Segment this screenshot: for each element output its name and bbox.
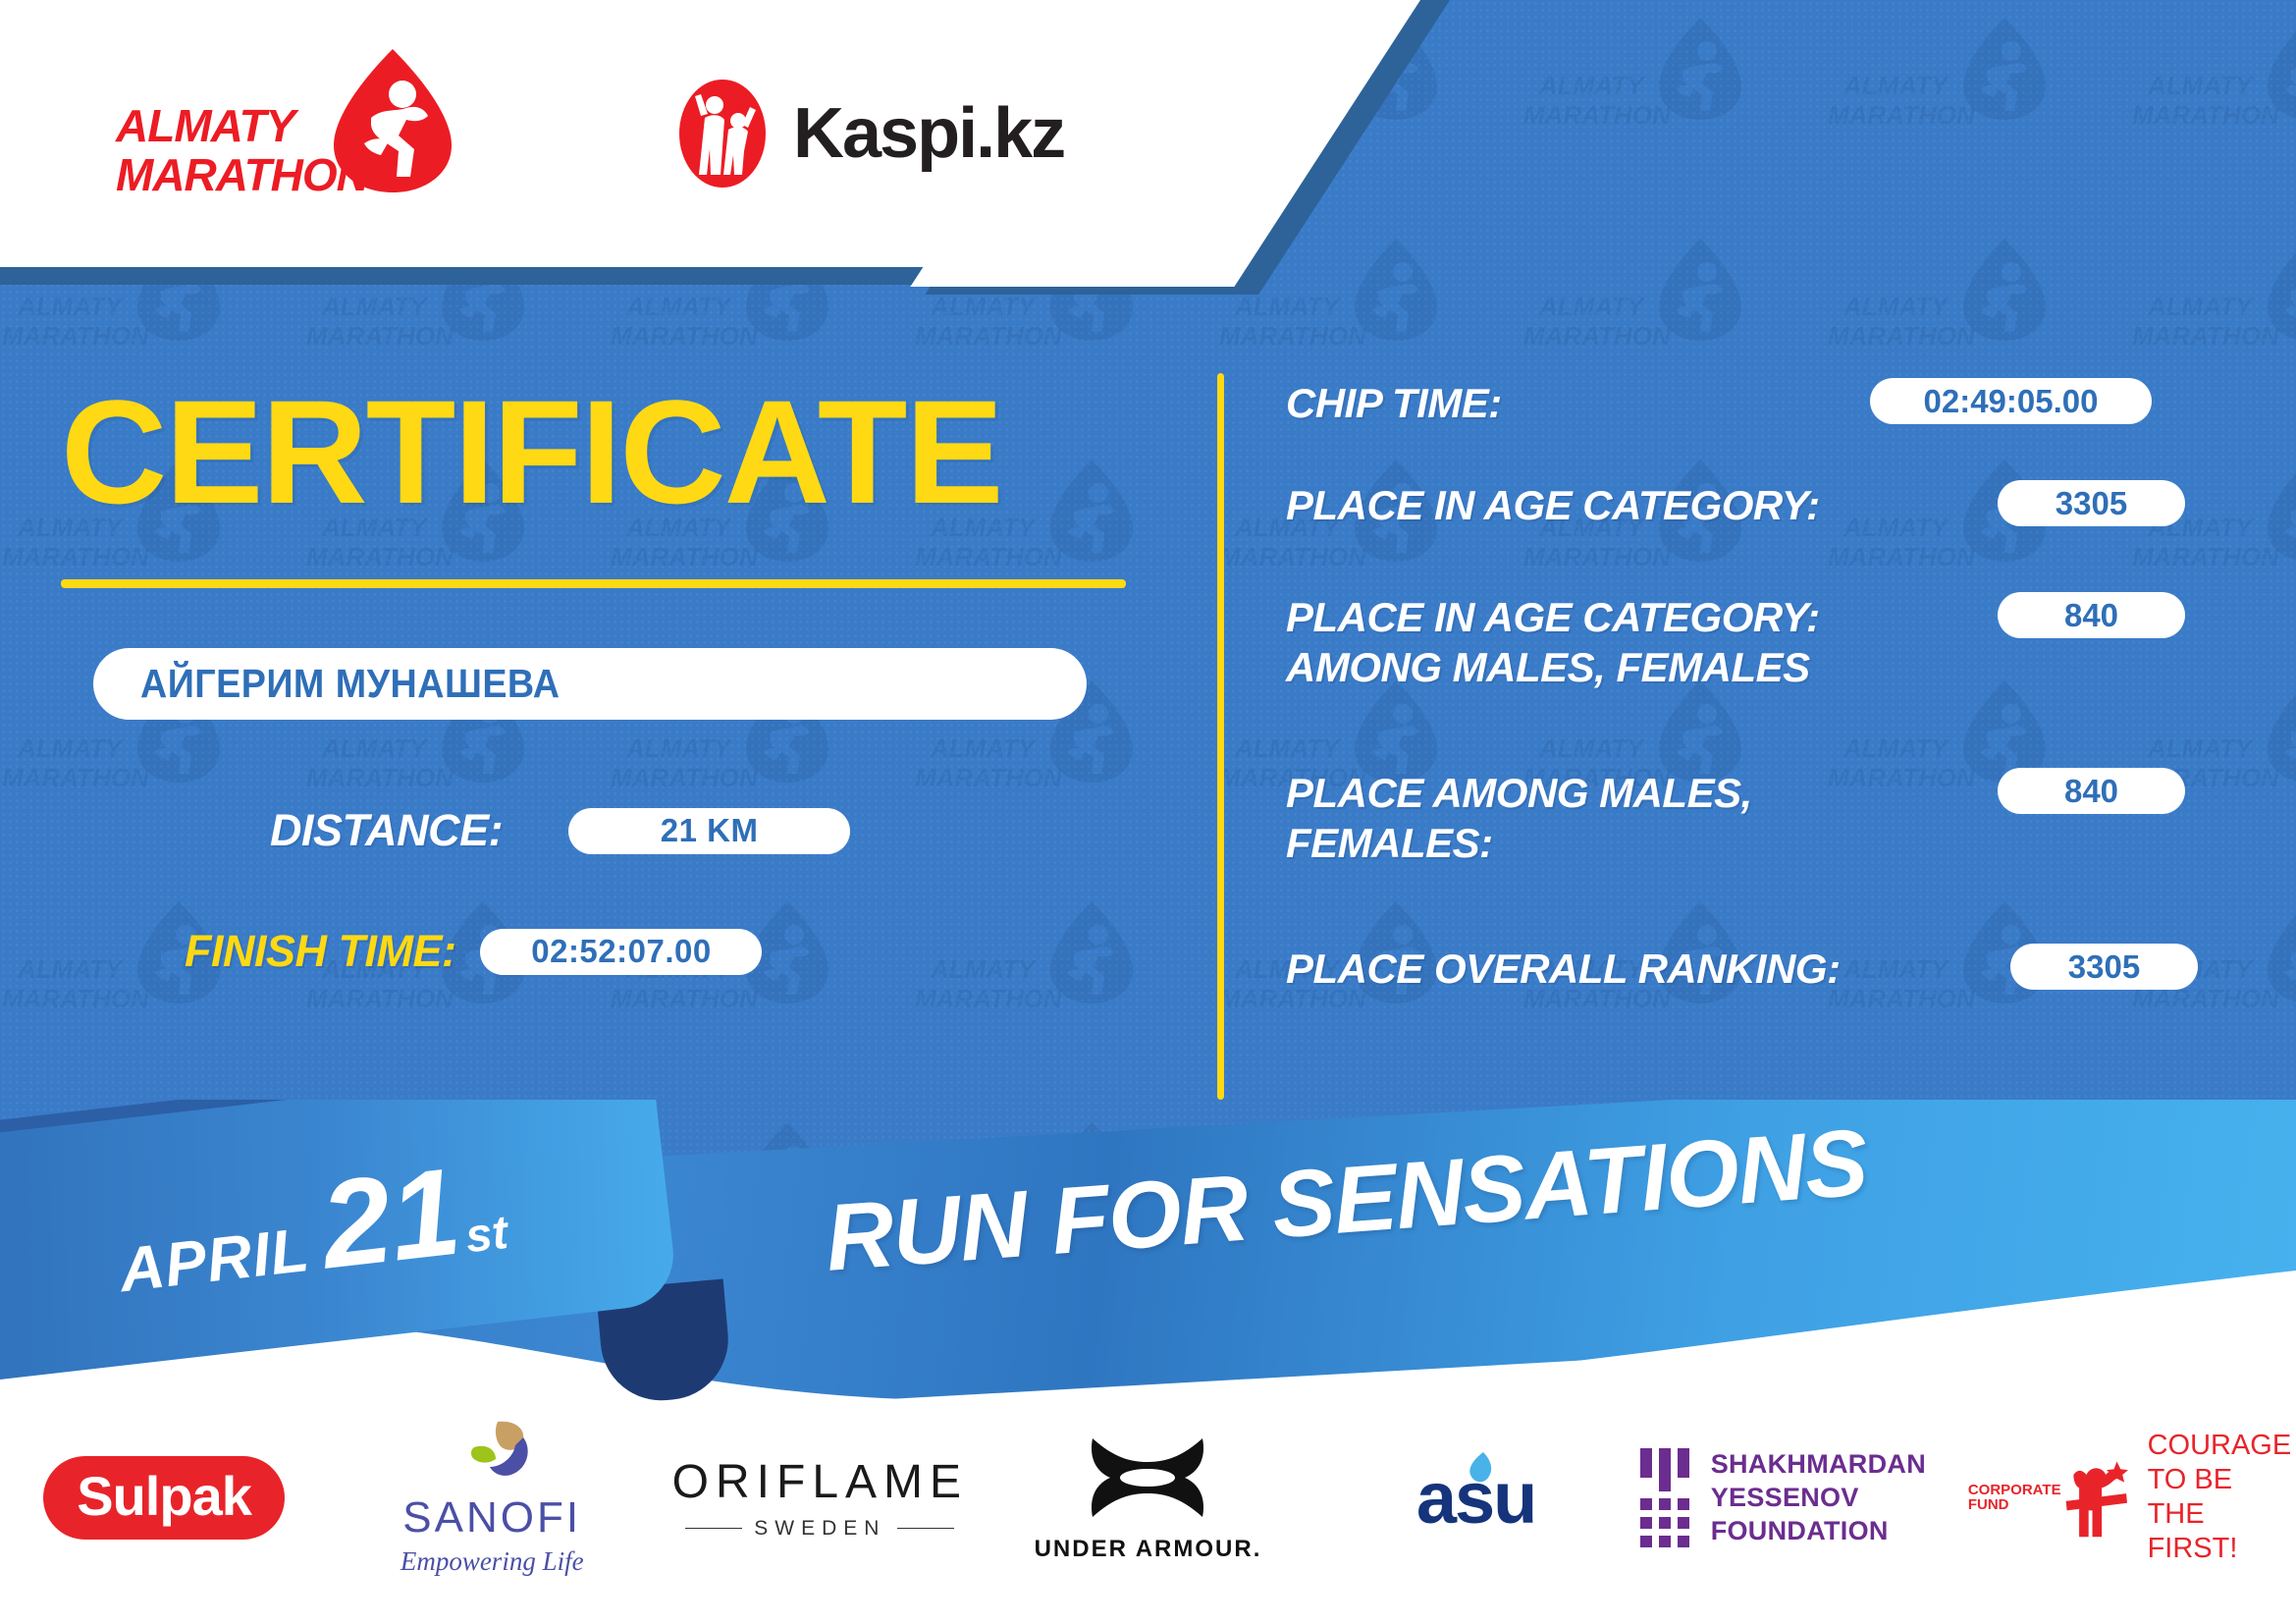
logo-line-1: ALMATY <box>116 101 381 150</box>
kaspi-logo: Kaspi.kz <box>677 79 1064 189</box>
kaspi-wordmark: Kaspi.kz <box>793 93 1064 174</box>
event-month: APRIL <box>116 1215 313 1306</box>
asu-drop-icon <box>1468 1452 1495 1486</box>
yessenov-wordmark: SHAKHMARDAN YESSENOV FOUNDATION <box>1711 1447 1968 1547</box>
sanofi-tagline: Empowering Life <box>400 1546 584 1577</box>
courage-wordmark: COURAGE TO BE THE FIRST! <box>2148 1429 2296 1566</box>
distance-value: 21 KM <box>568 808 850 854</box>
sponsor-under-armour: UNDER ARMOUR. <box>984 1414 1311 1581</box>
finish-time-label: FINISH TIME: <box>185 926 455 977</box>
finish-time-value: 02:52:07.00 <box>480 929 762 975</box>
sponsor-yessenov-foundation: SHAKHMARDAN YESSENOV FOUNDATION <box>1640 1414 1968 1581</box>
distance-row: DISTANCE: 21 KM <box>270 805 850 856</box>
stats-panel: CHIP TIME: 02:49:05.00 PLACE IN AGE CATE… <box>1286 378 2218 1046</box>
vertical-divider <box>1217 373 1224 1100</box>
almaty-marathon-wordmark: ALMATY MARATHON <box>116 101 381 199</box>
stat-value: 3305 <box>2010 944 2198 990</box>
distance-label: DISTANCE: <box>270 805 503 856</box>
logo-line-2: MARATHON <box>116 150 381 199</box>
almaty-marathon-logo: ALMATY MARATHON <box>116 47 454 214</box>
stat-row-place-age-category: PLACE IN AGE CATEGORY: 3305 <box>1286 480 2218 559</box>
stat-row-chip-time: CHIP TIME: 02:49:05.00 <box>1286 378 2218 447</box>
stat-label: CHIP TIME: <box>1286 378 1502 428</box>
under-armour-logo-icon <box>1083 1433 1212 1523</box>
sponsor-bar: Sulpak SANOFI Empowering Life ORIFLAME S… <box>0 1404 2296 1591</box>
oriflame-rule-right <box>897 1528 954 1530</box>
kaspi-people-icon <box>677 79 768 189</box>
stat-value: 840 <box>1998 768 2185 814</box>
finish-time-row: FINISH TIME: 02:52:07.00 <box>185 926 762 977</box>
stat-value: 840 <box>1998 592 2185 638</box>
sponsor-oriflame: ORIFLAME SWEDEN <box>656 1414 984 1581</box>
participant-name-value: АЙГЕРИМ МУНАШЕВА <box>140 661 560 707</box>
stat-label: PLACE IN AGE CATEGORY: <box>1286 480 1820 530</box>
sponsor-asu: asu <box>1312 1414 1640 1581</box>
sanofi-mark-icon <box>445 1418 539 1489</box>
asu-wordmark: asu <box>1416 1456 1536 1540</box>
stat-label: PLACE AMONG MALES, FEMALES: <box>1286 768 1752 868</box>
oriflame-tagline: SWEDEN <box>754 1517 885 1541</box>
page-title: CERTIFICATE <box>61 378 1002 525</box>
sponsor-sulpak: Sulpak <box>0 1414 328 1581</box>
certificate-page: ALMATY MARATHON Kaspi.kz CERTIFICATE <box>0 0 2296 1624</box>
participant-name-field: АЙГЕРИМ МУНАШЕВА <box>93 648 1087 720</box>
event-day-suffix: st <box>462 1206 510 1264</box>
sponsor-sanofi: SANOFI Empowering Life <box>328 1414 656 1581</box>
event-day: 21 <box>315 1149 466 1287</box>
yessenov-bars-icon <box>1640 1448 1689 1547</box>
stat-label: PLACE OVERALL RANKING: <box>1286 944 1841 994</box>
stat-row-place-age-category-gender: PLACE IN AGE CATEGORY: AMONG MALES, FEMA… <box>1286 592 2218 734</box>
title-underline <box>61 579 1126 588</box>
courage-figure-icon <box>2058 1452 2134 1543</box>
under-armour-wordmark: UNDER ARMOUR. <box>1035 1536 1262 1563</box>
sponsor-courage-fund: CORPORATE FUND COURAGE TO BE THE FIRST! <box>1968 1414 2296 1581</box>
corporate-fund-label: CORPORATE FUND <box>1968 1483 2045 1512</box>
stat-value: 02:49:05.00 <box>1870 378 2152 424</box>
stat-label: PLACE IN AGE CATEGORY: AMONG MALES, FEMA… <box>1286 592 1820 692</box>
stat-row-place-overall: PLACE OVERALL RANKING: 3305 <box>1286 944 2218 1012</box>
oriflame-wordmark: ORIFLAME <box>672 1455 968 1509</box>
oriflame-rule-left <box>685 1528 742 1530</box>
sulpak-wordmark: Sulpak <box>43 1456 285 1540</box>
stat-row-place-among-gender: PLACE AMONG MALES, FEMALES: 840 <box>1286 768 2218 910</box>
sanofi-wordmark: SANOFI <box>400 1493 584 1543</box>
header-logos: ALMATY MARATHON Kaspi.kz <box>0 0 1178 267</box>
stat-value: 3305 <box>1998 480 2185 526</box>
